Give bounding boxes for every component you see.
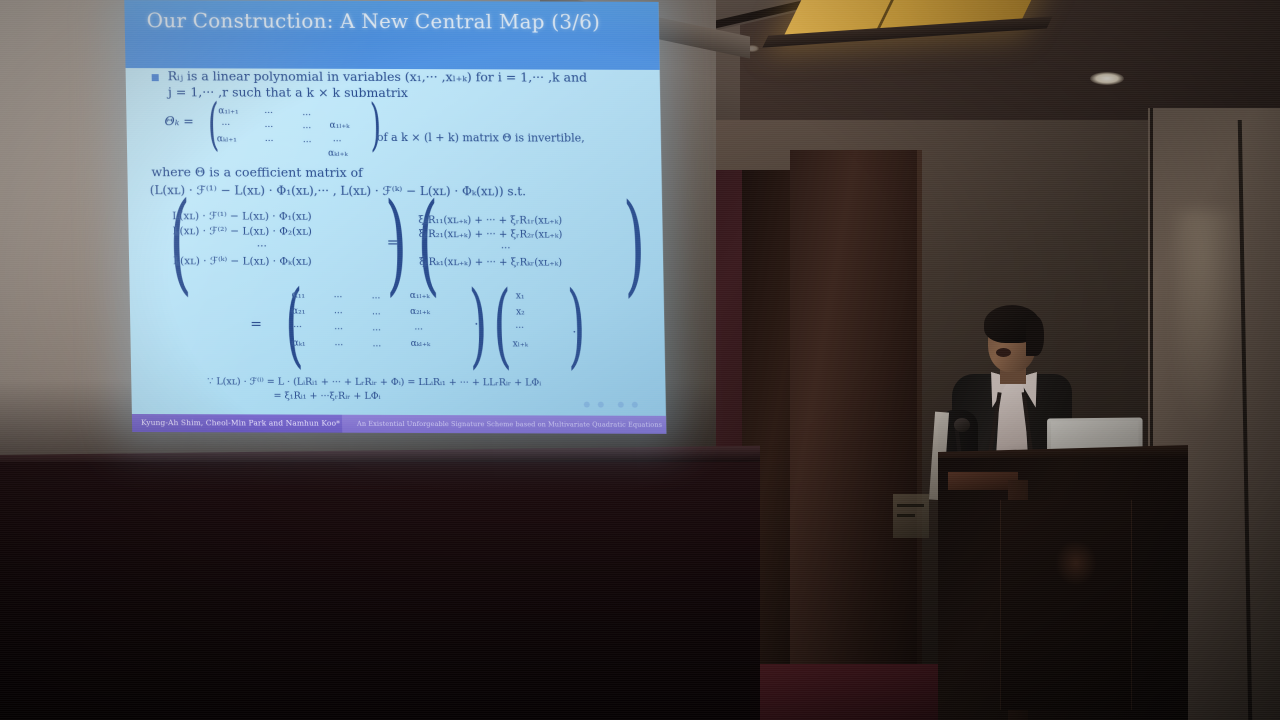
alpha-cell: αₖ₁ [293,339,306,349]
x-vector-cell: ··· [515,323,524,333]
forward-icon[interactable] [618,402,624,408]
theta-tail-text: of a k × (l + k) matrix Θ is invertible, [377,131,585,145]
coefficient-line: (L(xʟ) · ℱ⁽¹⁾ − L(xʟ) · Φ₁(xʟ),··· , L(x… [150,183,526,198]
presenter-hair-side [1026,316,1044,356]
eq-rhs-left-paren: ( [417,191,440,295]
eq-rhs-row: ··· [501,243,511,254]
alpha-cell: α₂ₗ₊ₖ [410,307,430,317]
matrix-dot-operator: · [474,317,478,332]
theta-cell: ··· [302,111,311,121]
alpha-cell: ··· [372,294,381,304]
theta-cell: ··· [264,109,273,119]
eq-rhs-right-paren: ) [623,192,646,296]
wall-notice-line [897,504,924,507]
theta-cell: ··· [303,124,312,134]
alpha-cell: ··· [334,309,343,319]
conference-room-photo: Our Construction: A New Central Map (3/6… [0,0,1280,720]
because-line-1: ∵ L(xʟ) · ℱ⁽ⁱ⁾ = L · (LᵢRᵢ₁ + ··· + LᵣRᵢ… [207,376,541,388]
projected-slide: Our Construction: A New Central Map (3/6… [104,0,673,456]
lower-dark-wall [0,462,760,720]
theta-cell: α₁ₗ₊ₖ [330,121,350,131]
wall-notice-line [897,514,915,517]
eq-equals-sign: = [387,235,399,251]
theta-cell: α₁ₗ₊₁ [218,106,238,116]
back-icon[interactable] [598,402,604,408]
eq-lhs-row: ··· [257,240,267,252]
theta-cell: αₖₗ₊₁ [217,134,237,144]
x-vector-cell: x₂ [516,307,525,317]
next-icon[interactable] [632,402,638,408]
alpha-cell: ··· [372,326,381,336]
eq-rhs-row: ξ₁R₁₁(xʟ₊ₖ) + ··· + ξᵣR₁ᵣ(xʟ₊ₖ) [418,215,562,226]
alpha-cell: α₁ₗ₊ₖ [410,291,430,301]
wood-column-edge [917,150,922,670]
x-vector-left-paren: ( [492,281,512,369]
prev-icon[interactable] [584,402,590,408]
eq-lhs-row: L(xʟ) · ℱ⁽²⁾ − L(xʟ) · Φ₂(xʟ) [172,225,312,237]
because-line-2: = ξ₁Rᵢ₁ + ···ξᵣRᵢᵣ + LΦᵢ [273,390,380,401]
eq-lhs-left-paren: ( [169,190,192,294]
alpha-cell: ··· [334,293,343,303]
slide-title-bar: Our Construction: A New Central Map (3/6… [124,0,659,70]
eq-rhs-row: ξ₁R₂₁(xʟ₊ₖ) + ··· + ξᵣR₂ᵣ(xʟ₊ₖ) [419,229,563,240]
slide-canvas: Our Construction: A New Central Map (3/6… [124,0,666,434]
alpha-cell: ··· [334,325,343,335]
slide-footer-authors: Kyung-Ah Shim, Cheol-Min Park and Namhun… [141,418,340,428]
alpha-cell: ··· [293,323,302,333]
presenter-mouth [996,348,1011,357]
downlight-icon [1090,72,1124,85]
x-vector-cell: x₁ [516,291,525,301]
alpha-cell: αₖₗ₊ₖ [411,339,431,349]
slide-title: Our Construction: A New Central Map (3/6… [146,8,647,34]
microphone-icon [954,418,970,432]
slide-footer-authors-cell: Kyung-Ah Shim, Cheol-Min Park and Namhun… [132,414,342,433]
slide-footer-bar: Kyung-Ah Shim, Cheol-Min Park and Namhun… [132,414,666,434]
eq-rhs-row: ξ₁Rₖ₁(xʟ₊ₖ) + ··· + ξᵣRₖᵣ(xʟ₊ₖ) [419,257,562,268]
theta-matrix-right-paren: ) [370,99,382,153]
alpha-cell: ··· [335,341,344,351]
alpha-cell: ··· [372,310,381,320]
x-vector-cell: xₗ₊ₖ [513,339,528,349]
eq-lhs-row: L(xʟ) · ℱ⁽ᵏ⁾ − L(xʟ) · Φₖ(xʟ) [173,255,312,267]
theta-cell: ··· [265,137,274,147]
theta-cell: ··· [303,138,312,148]
alpha-cell: ··· [414,325,423,335]
alpha-cell: α₂₁ [292,307,305,317]
eq-lhs-row: L(xʟ) · ℱ⁽¹⁾ − L(xʟ) · Φ₁(xʟ) [172,210,312,222]
theta-cell: ··· [265,123,274,133]
theta-cell: ··· [333,137,342,147]
x-vector-period: . [572,322,576,336]
podium-front-panel [1000,500,1132,710]
slide-footer-paper-title: An Existential Unforgeable Signature Sch… [357,419,662,428]
alpha-cell: ··· [373,342,382,352]
alpha-cell: α₁₁ [292,291,305,301]
theta-cell: ··· [222,120,231,130]
bullet-square-icon [152,74,159,81]
wood-paneled-column [790,150,920,670]
theta-k-label: Θₖ = [164,113,194,128]
eq2-equals-sign: = [250,316,262,332]
podium-emblem [1055,540,1097,586]
bullet-line-1: Rᵢⱼ is a linear polynomial in variables … [168,68,588,84]
slide-nav-bar[interactable] [584,400,646,411]
theta-cell: αₖₗ₊ₖ [328,149,348,159]
slide-body: Rᵢⱼ is a linear polynomial in variables … [126,68,666,416]
